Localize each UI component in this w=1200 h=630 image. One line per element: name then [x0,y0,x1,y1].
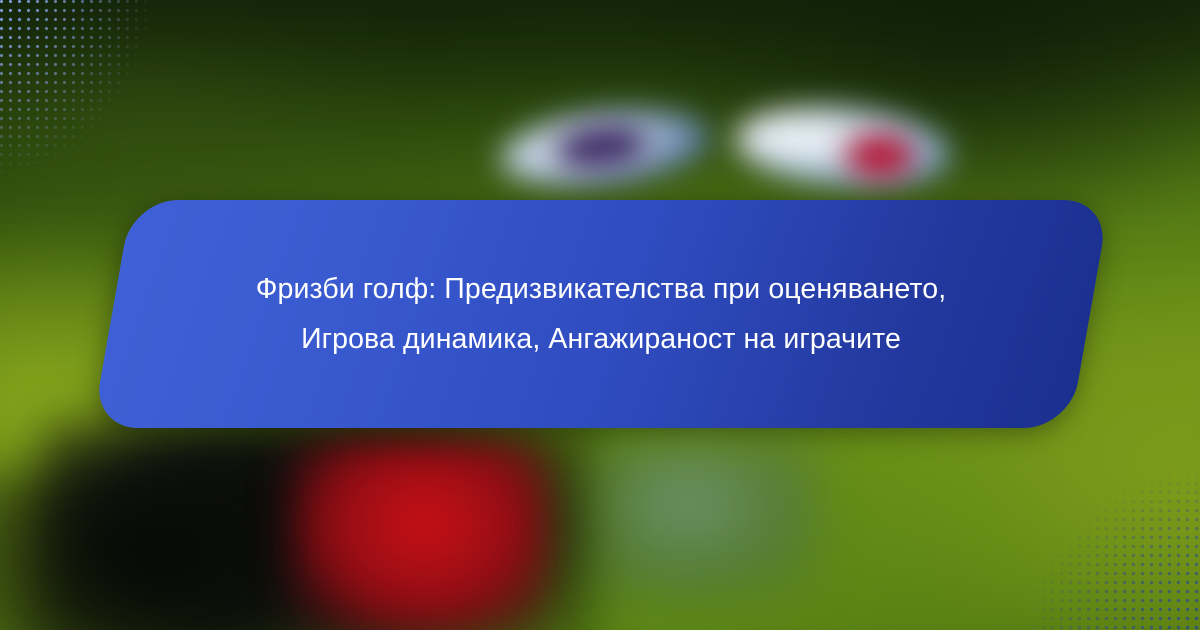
background-bag-red-cloth [290,440,550,630]
background-disc-red-logo [845,134,915,178]
title-card: Фризби голф: Предизвикателства при оценя… [112,200,1090,428]
background-bag-shadow [0,470,280,630]
title-card-content: Фризби голф: Предизвикателства при оценя… [112,200,1090,428]
page-title-line-1: Фризби голф: Предизвикателства при оценя… [256,264,946,314]
social-share-card: Фризби голф: Предизвикателства при оценя… [0,0,1200,630]
page-title-line-2: Игрова динамика, Ангажираност на играчит… [301,314,901,364]
background-bag-grey [600,440,820,600]
